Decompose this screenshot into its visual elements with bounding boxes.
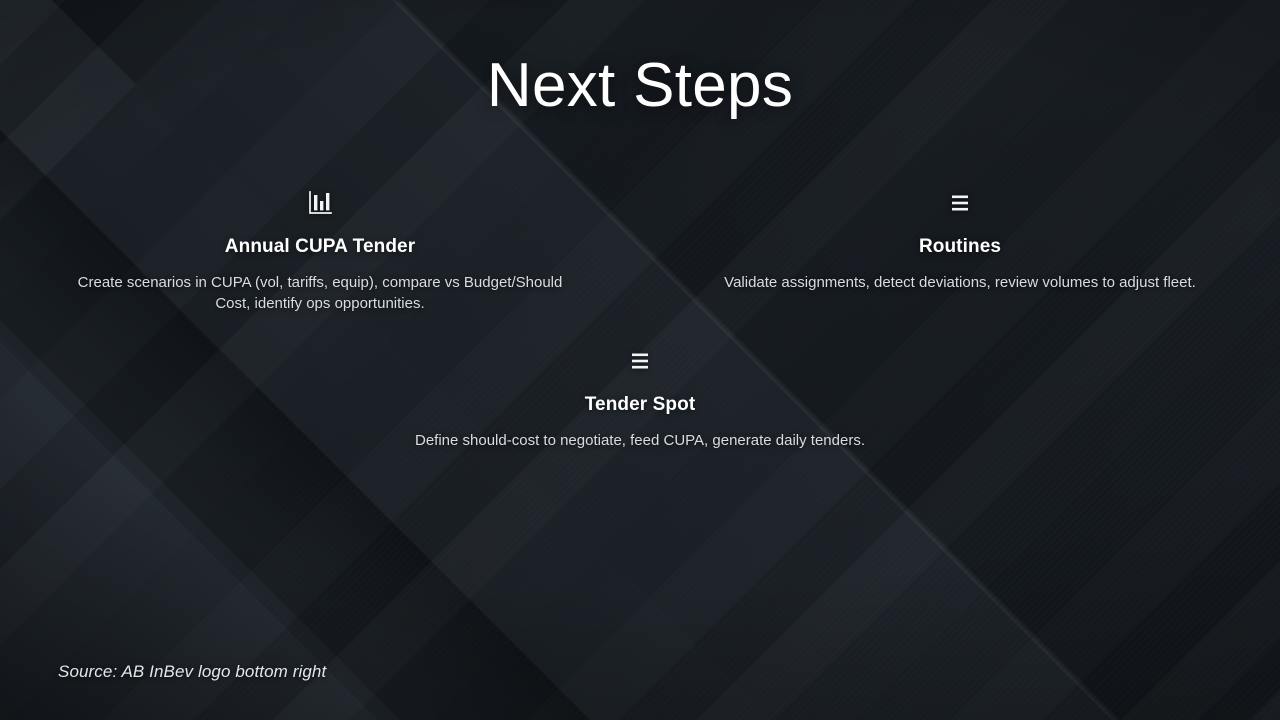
card-row-bottom: Tender Spot Define should-cost to negoti… [0,344,1280,451]
bar-chart-icon [48,186,592,220]
source-note: Source: AB InBev logo bottom right [58,662,326,682]
slide-canvas: Next Steps Annual CUPA Tender Create sce… [0,0,1280,720]
card-grid: Annual CUPA Tender Create scenarios in C… [0,186,1280,451]
card-routines[interactable]: Routines Validate assignments, detect de… [640,186,1280,314]
card-description: Validate assignments, detect deviations,… [717,272,1203,293]
slide-content: Next Steps Annual CUPA Tender Create sce… [0,0,1280,720]
list-lines-icon [368,344,912,378]
list-lines-icon [688,186,1232,220]
card-annual-cupa-tender[interactable]: Annual CUPA Tender Create scenarios in C… [0,186,640,314]
card-description: Define should-cost to negotiate, feed CU… [397,430,883,451]
card-title: Tender Spot [368,394,912,416]
card-title: Routines [688,236,1232,258]
card-title: Annual CUPA Tender [48,236,592,258]
page-title: Next Steps [0,52,1280,120]
card-tender-spot[interactable]: Tender Spot Define should-cost to negoti… [320,344,960,451]
card-description: Create scenarios in CUPA (vol, tariffs, … [77,272,563,314]
card-row-top: Annual CUPA Tender Create scenarios in C… [0,186,1280,314]
